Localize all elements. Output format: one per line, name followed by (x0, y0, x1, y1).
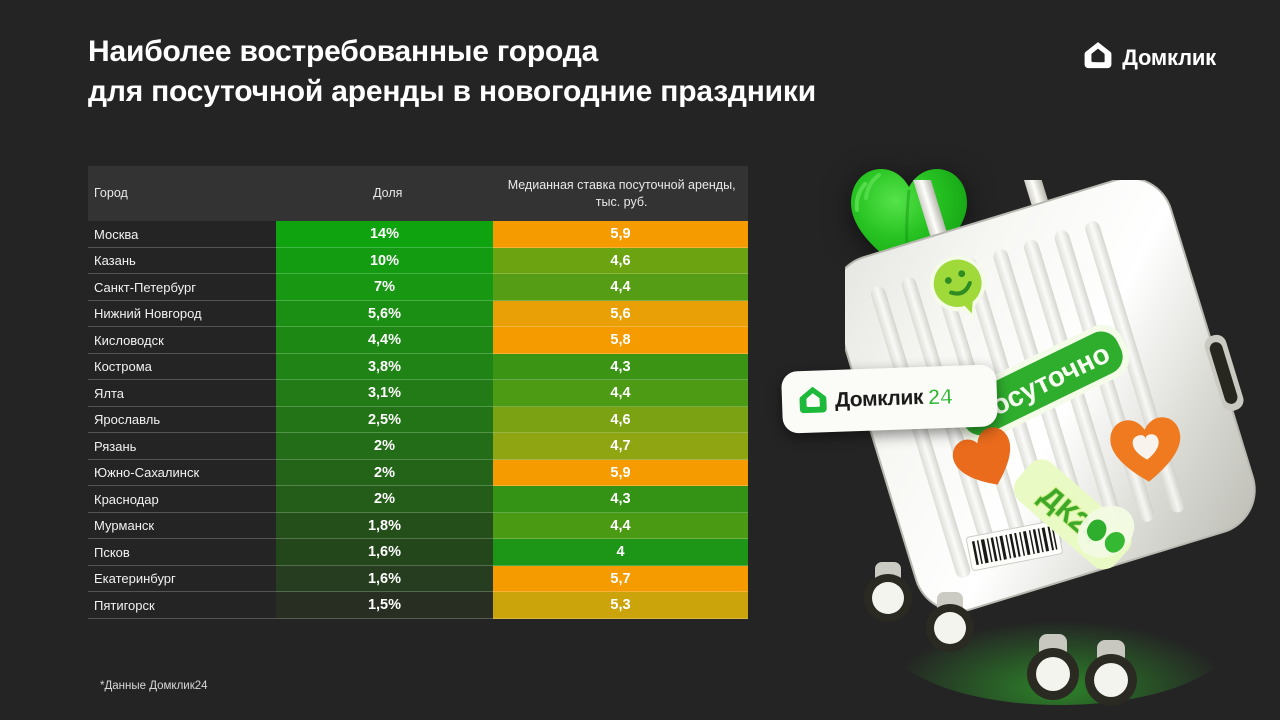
cell-share: 1,5% (276, 592, 493, 619)
badge-label: Домклик (835, 386, 924, 413)
cell-rate: 5,6 (493, 301, 748, 328)
infographic-canvas: Наиболее востребованные города для посут… (0, 0, 1280, 720)
table-header-row: Город Доля Медианная ставка посуточной а… (88, 166, 748, 221)
suitcase: Посуточно ДК24 (845, 180, 1275, 710)
cell-share: 1,6% (276, 539, 493, 566)
house-icon (1083, 40, 1113, 75)
cell-rate: 4,4 (493, 274, 748, 301)
cell-share: 14% (276, 221, 493, 248)
cell-share: 5,6% (276, 301, 493, 328)
table-row: Екатеринбург1,6%5,7 (88, 566, 748, 593)
table-row: Казань10%4,6 (88, 248, 748, 275)
cell-rate: 4,6 (493, 248, 748, 275)
cell-rate: 5,9 (493, 221, 748, 248)
cell-share: 3,1% (276, 380, 493, 407)
cell-rate: 4,4 (493, 380, 748, 407)
cell-rate: 4,7 (493, 433, 748, 460)
cell-share: 2,5% (276, 407, 493, 434)
cell-rate: 4,6 (493, 407, 748, 434)
cell-city: Кострома (88, 354, 276, 381)
brand-logo: Домклик (1083, 40, 1216, 75)
table-row: Кисловодск4,4%5,8 (88, 327, 748, 354)
cell-city: Мурманск (88, 513, 276, 540)
cell-rate: 4 (493, 539, 748, 566)
cell-share: 4,4% (276, 327, 493, 354)
cell-city: Санкт-Петербург (88, 274, 276, 301)
table-row: Пятигорск1,5%5,3 (88, 592, 748, 619)
cell-city: Ялта (88, 380, 276, 407)
cell-rate: 4,4 (493, 513, 748, 540)
page-title: Наиболее востребованные города для посут… (88, 32, 1068, 112)
table-row: Москва14%5,9 (88, 221, 748, 248)
table-row: Кострома3,8%4,3 (88, 354, 748, 381)
cell-share: 2% (276, 486, 493, 513)
column-header-share: Доля (280, 185, 495, 202)
cell-city: Казань (88, 248, 276, 275)
cell-rate: 4,3 (493, 486, 748, 513)
table-row: Рязань2%4,7 (88, 433, 748, 460)
cell-city: Краснодар (88, 486, 276, 513)
column-header-city: Город (88, 185, 280, 202)
cell-city: Пятигорск (88, 592, 276, 619)
cities-table: Город Доля Медианная ставка посуточной а… (88, 166, 748, 619)
cell-city: Псков (88, 539, 276, 566)
table-row: Краснодар2%4,3 (88, 486, 748, 513)
cell-city: Москва (88, 221, 276, 248)
table-row: Нижний Новгород5,6%5,6 (88, 301, 748, 328)
suitcase-domklik-badge: Домклик 24 (781, 364, 998, 433)
cell-rate: 5,8 (493, 327, 748, 354)
cell-rate: 5,3 (493, 592, 748, 619)
table-body: Москва14%5,9Казань10%4,6Санкт-Петербург7… (88, 221, 748, 619)
table-row: Ялта3,1%4,4 (88, 380, 748, 407)
badge-24-label: 24 (928, 384, 953, 411)
house-icon-green (797, 384, 828, 420)
cell-city: Ярославль (88, 407, 276, 434)
table-row: Мурманск1,8%4,4 (88, 513, 748, 540)
cell-city: Рязань (88, 433, 276, 460)
brand-name: Домклик (1122, 45, 1216, 71)
cell-rate: 5,7 (493, 566, 748, 593)
cell-city: Кисловодск (88, 327, 276, 354)
cell-share: 3,8% (276, 354, 493, 381)
table-row: Санкт-Петербург7%4,4 (88, 274, 748, 301)
cell-share: 1,8% (276, 513, 493, 540)
cell-share: 1,6% (276, 566, 493, 593)
cell-share: 2% (276, 433, 493, 460)
table-row: Южно-Сахалинск2%5,9 (88, 460, 748, 487)
cell-city: Нижний Новгород (88, 301, 276, 328)
column-header-rate: Медианная ставка посуточной аренды, тыс.… (495, 177, 748, 211)
cell-rate: 5,9 (493, 460, 748, 487)
table-row: Псков1,6%4 (88, 539, 748, 566)
footnote: *Данные Домклик24 (100, 680, 208, 692)
cell-share: 10% (276, 248, 493, 275)
cell-rate: 4,3 (493, 354, 748, 381)
cell-city: Южно-Сахалинск (88, 460, 276, 487)
cell-share: 2% (276, 460, 493, 487)
artwork: Посуточно ДК24 (760, 140, 1280, 720)
table-row: Ярославль2,5%4,6 (88, 407, 748, 434)
cell-share: 7% (276, 274, 493, 301)
cell-city: Екатеринбург (88, 566, 276, 593)
